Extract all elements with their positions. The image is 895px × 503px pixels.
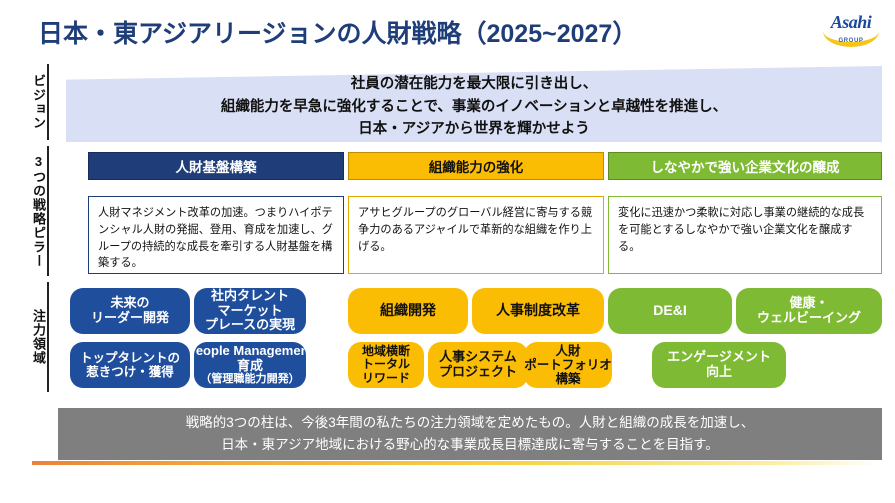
focus-area-pill-line: 社内タレント	[205, 289, 295, 304]
summary-line-1: 戦略的3つの柱は、今後3年間の私たちの注力領域を定めたもの。人財と組織の成長を加…	[186, 412, 755, 434]
focus-area-pill-line: 組織開発	[380, 303, 436, 319]
logo-group-text: GROUP	[820, 38, 882, 44]
side-label-pillars: 3つの戦略ピラー	[32, 146, 49, 276]
summary-banner: 戦略的3つの柱は、今後3年間の私たちの注力領域を定めたもの。人財と組織の成長を加…	[58, 408, 882, 460]
focus-area-pill-line: 未来の	[91, 296, 169, 311]
pillar-heading-1: 人財基盤構築	[88, 152, 344, 180]
focus-area-pill[interactable]: People Management育成（管理職能力開発）	[194, 342, 306, 388]
pillar-description-2: アサヒグループのグローバル経営に寄与する競争力のあるアジャイルで革新的な組織を作…	[348, 196, 604, 274]
vision-line-2: 組織能力を早急に強化することで、事業のイノベーションと卓越性を推進し、	[221, 96, 727, 118]
focus-area-pill-line: 地域横断	[362, 345, 410, 358]
focus-area-pill[interactable]: 社内タレントマーケットプレースの実現	[194, 288, 306, 334]
focus-area-pill-line: ポートフォリオ	[524, 358, 612, 372]
focus-area-pill-line: 人事制度改革	[496, 303, 580, 319]
focus-area-pill-line: 向上	[667, 365, 771, 380]
side-label-vision: ビジョン	[32, 64, 49, 140]
focus-area-pill-line: DE&I	[653, 303, 686, 319]
focus-area-pill-line: 構築	[524, 372, 612, 386]
focus-area-pill[interactable]: 組織開発	[348, 288, 468, 334]
vision-line-1: 社員の潜在能力を最大限に引き出し、	[351, 73, 598, 95]
focus-area-pill-line: ウェルビーイング	[757, 311, 861, 326]
focus-area-pill[interactable]: 未来のリーダー開発	[70, 288, 190, 334]
accent-bar	[32, 461, 882, 465]
pillar-description-3: 変化に迅速かつ柔軟に対応し事業の継続的な成長を可能とするしなやかで強い企業文化を…	[608, 196, 882, 274]
pillar-description-1: 人財マネジメント改革の加速。つまりハイポテンシャル人財の発掘、登用、育成を加速し…	[88, 196, 344, 274]
focus-area-pill-line: 惹きつけ・獲得	[80, 365, 180, 379]
asahi-group-logo: Asahi GROUP	[820, 10, 882, 52]
focus-area-pill-line: プレースの実現	[205, 318, 295, 333]
summary-line-2: 日本・東アジア地域における野心的な事業成長目標達成に寄与することを目指す。	[221, 434, 719, 456]
focus-area-pill-line: 人財	[524, 344, 612, 358]
focus-area-pill-line: 育成	[194, 359, 306, 374]
focus-area-pill-line: （管理職能力開発）	[194, 373, 306, 385]
focus-area-pill-line: エンゲージメント	[667, 350, 771, 365]
focus-area-pill-line: トータル	[362, 358, 410, 371]
focus-area-pill-line: リワード	[362, 372, 410, 385]
focus-area-pill-line: プロジェクト	[439, 365, 517, 380]
page-title: 日本・東アジアリージョンの人財戦略（2025~2027）	[38, 14, 637, 50]
focus-area-pill-line: リーダー開発	[91, 311, 169, 326]
focus-area-pill[interactable]: トップタレントの惹きつけ・獲得	[70, 342, 190, 388]
focus-area-pill-line: People Management	[194, 344, 306, 359]
focus-area-pill-line: 健康・	[757, 296, 861, 311]
focus-area-pill[interactable]: DE&I	[608, 288, 732, 334]
focus-area-pill[interactable]: 人事システムプロジェクト	[428, 342, 528, 388]
side-label-focus: 注力領域	[32, 282, 49, 392]
focus-area-pill[interactable]: 地域横断トータルリワード	[348, 342, 424, 388]
focus-area-pill-line: 人事システム	[439, 350, 517, 365]
logo-brand-text: Asahi	[820, 12, 882, 33]
vision-statement: 社員の潜在能力を最大限に引き出し、 組織能力を早急に強化することで、事業のイノベ…	[66, 72, 882, 142]
pillar-heading-2: 組織能力の強化	[348, 152, 604, 180]
focus-area-pill[interactable]: エンゲージメント向上	[652, 342, 786, 388]
focus-area-pill-line: トップタレントの	[80, 351, 180, 365]
focus-area-pill[interactable]: 健康・ウェルビーイング	[736, 288, 882, 334]
focus-area-pill-line: マーケット	[205, 304, 295, 319]
pillar-heading-3: しなやかで強い企業文化の醸成	[608, 152, 882, 180]
focus-area-pill[interactable]: 人財ポートフォリオ構築	[524, 342, 612, 388]
focus-area-pill[interactable]: 人事制度改革	[472, 288, 604, 334]
vision-line-3: 日本・アジアから世界を輝かせよう	[358, 118, 589, 140]
